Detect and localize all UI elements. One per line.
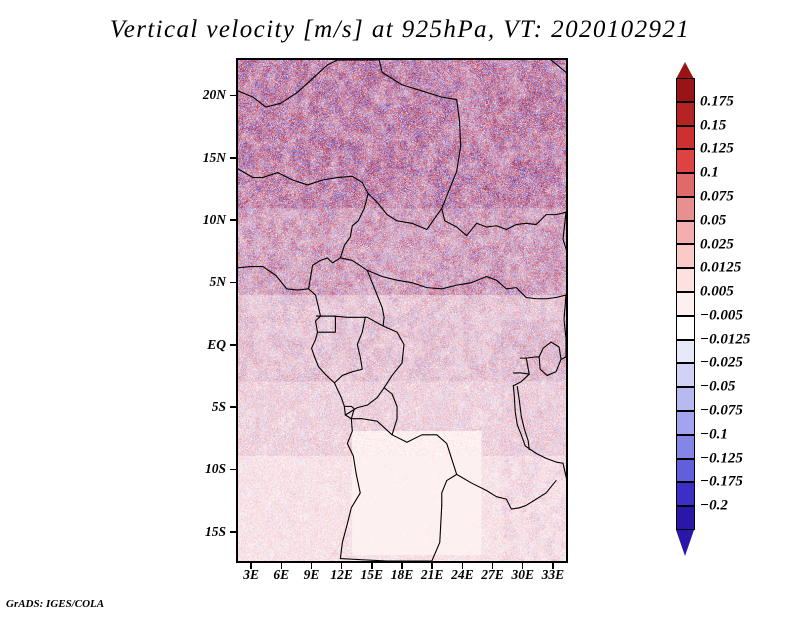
colorbar-segment	[676, 435, 695, 459]
longitude-tick-mark	[552, 563, 554, 569]
colorbar-tick-label: −0.005	[700, 307, 743, 324]
colorbar-segment	[676, 316, 695, 340]
colorbar-tick-label: 0.1	[700, 165, 719, 182]
colorbar-segment	[676, 149, 695, 173]
longitude-tick-label: 3E	[243, 567, 259, 583]
longitude-tick-label: 18E	[391, 567, 414, 583]
latitude-tick-label: 15N	[203, 150, 226, 166]
longitude-tick-label: 9E	[304, 567, 320, 583]
longitude-tick-label: 21E	[421, 567, 444, 583]
longitude-tick-mark	[341, 563, 343, 569]
longitude-tick-label: 33E	[542, 567, 565, 583]
longitude-tick-mark	[371, 563, 373, 569]
latitude-tick-label: 5S	[212, 399, 226, 415]
longitude-tick-label: 15E	[361, 567, 384, 583]
longitude-tick-mark	[311, 563, 313, 569]
colorbar-tick-label: −0.175	[700, 474, 743, 491]
colorbar-segment	[676, 506, 695, 530]
colorbar-segment	[676, 482, 695, 506]
colorbar-cap-top	[676, 62, 694, 79]
colorbar-tick-label: −0.1	[700, 426, 728, 443]
colorbar-tick-label: −0.025	[700, 355, 743, 372]
latitude-tick-mark	[230, 95, 236, 97]
colorbar-segment	[676, 292, 695, 316]
longitude-tick-label: 27E	[481, 567, 504, 583]
colorbar-segment	[676, 221, 695, 245]
colorbar-tick-label: −0.05	[700, 379, 735, 396]
colorbar-segment	[676, 340, 695, 364]
colorbar-tick-label: 0.075	[700, 188, 734, 205]
colorbar-tick-label: 0.175	[700, 93, 734, 110]
colorbar-tick-label: −0.075	[700, 403, 743, 420]
colorbar-segment	[676, 411, 695, 435]
longitude-tick-mark	[431, 563, 433, 569]
colorbar-segment	[676, 387, 695, 411]
longitude-tick-mark	[250, 563, 252, 569]
colorbar-segment	[676, 244, 695, 268]
colorbar-tick-label: 0.125	[700, 141, 734, 158]
latitude-tick-mark	[230, 157, 236, 159]
longitude-tick-mark	[281, 563, 283, 569]
page-title: Vertical velocity [m/s] at 925hPa, VT: 2…	[0, 16, 800, 44]
longitude-tick-label: 24E	[451, 567, 474, 583]
longitude-tick-mark	[492, 563, 494, 569]
latitude-tick-mark	[230, 219, 236, 221]
longitude-tick-mark	[401, 563, 403, 569]
colorbar-tick-label: 0.005	[700, 284, 734, 301]
colorbar-segment	[676, 102, 695, 126]
latitude-tick-mark	[230, 469, 236, 471]
colorbar-tick-label: 0.025	[700, 236, 734, 253]
latitude-tick-label: 15S	[205, 524, 226, 540]
colorbar-tick-label: 0.05	[700, 212, 726, 229]
colorbar-segment	[676, 268, 695, 292]
colorbar-tick-label: −0.2	[700, 498, 728, 515]
longitude-tick-mark	[462, 563, 464, 569]
grads-attribution: GrADS: IGES/COLA	[6, 598, 104, 610]
longitude-tick-mark	[522, 563, 524, 569]
colorbar-tick-label: 0.15	[700, 117, 726, 134]
colorbar-segment	[676, 173, 695, 197]
colorbar-tick-label: −0.0125	[700, 331, 750, 348]
latitude-tick-mark	[230, 406, 236, 408]
colorbar-segment	[676, 126, 695, 150]
longitude-tick-label: 30E	[511, 567, 534, 583]
longitude-tick-label: 12E	[330, 567, 353, 583]
colorbar-cap-bottom	[676, 530, 694, 556]
latitude-tick-mark	[230, 344, 236, 346]
colorbar-tick-label: −0.125	[700, 450, 743, 467]
colorbar-segment	[676, 78, 695, 102]
latitude-tick-label: 5N	[210, 274, 227, 290]
colorbar	[676, 78, 695, 530]
latitude-tick-label: 10N	[203, 212, 226, 228]
country-borders-overlay	[238, 60, 566, 561]
map-plot-area	[236, 58, 568, 563]
latitude-tick-mark	[230, 282, 236, 284]
latitude-tick-label: 20N	[203, 87, 226, 103]
colorbar-segment	[676, 197, 695, 221]
latitude-tick-label: EQ	[207, 337, 226, 353]
colorbar-segment	[676, 363, 695, 387]
latitude-tick-label: 10S	[205, 461, 226, 477]
colorbar-segment	[676, 459, 695, 483]
colorbar-tick-label: 0.0125	[700, 260, 741, 277]
longitude-tick-label: 6E	[273, 567, 289, 583]
latitude-tick-mark	[230, 531, 236, 533]
